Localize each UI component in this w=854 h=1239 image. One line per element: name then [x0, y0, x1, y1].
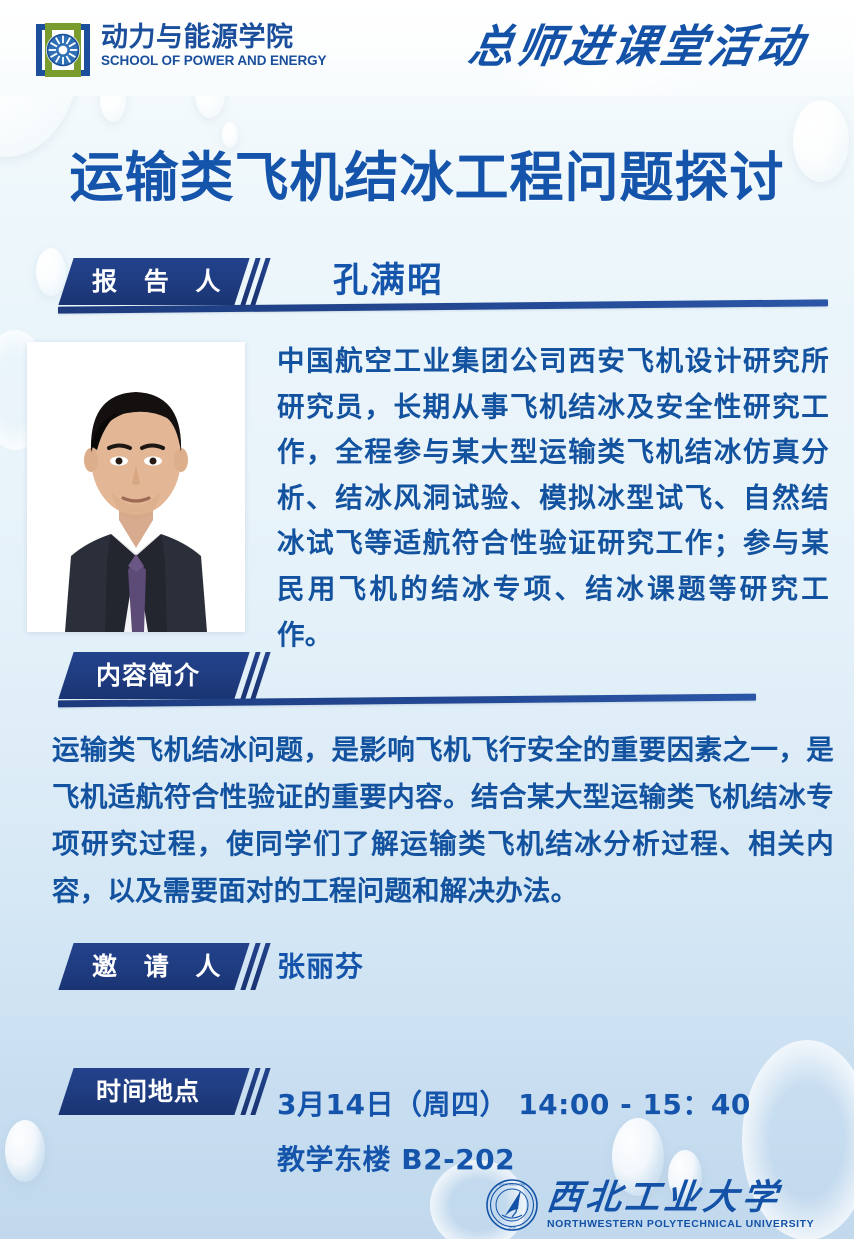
event-datetime: 3月14日（周四） 14:00 - 15：40: [277, 1077, 837, 1132]
event-series-tag: 总师进课堂活动: [447, 18, 826, 76]
nwpu-university-seal-icon: NORTHWESTERN 1938: [486, 1179, 538, 1231]
poster-canvas: 动力与能源学院 SCHOOL OF POWER AND ENERGY 总师进课堂…: [0, 0, 854, 1239]
decor-bubble: [5, 1120, 45, 1182]
university-name-en: NORTHWESTERN POLYTECHNICAL UNIVERSITY: [547, 1218, 814, 1231]
abstract-label-band: 内容简介: [52, 652, 292, 699]
speaker-portrait: [27, 342, 245, 632]
time-place-values: 3月14日（周四） 14:00 - 15：40 教学东楼 B2-202: [277, 1077, 837, 1187]
school-logo: 动力与能源学院 SCHOOL OF POWER AND ENERGY: [33, 21, 326, 79]
school-name-cn: 动力与能源学院: [101, 22, 326, 52]
abstract-text: 运输类飞机结冰问题，是影响飞机飞行安全的重要因素之一，是飞机适航符合性验证的重要…: [52, 727, 834, 915]
speaker-name: 孔满昭: [333, 258, 444, 305]
speaker-label: 报 告 人: [92, 258, 229, 305]
time-place-label: 时间地点: [96, 1068, 200, 1115]
inviter-label: 邀 请 人: [92, 943, 229, 990]
university-footer: NORTHWESTERN 1938 西北工业大学 NORTHWESTERN PO…: [486, 1176, 838, 1234]
svg-text:NORTHWESTERN: NORTHWESTERN: [499, 1182, 525, 1186]
decor-bubble: [222, 122, 238, 148]
speaker-bio: 中国航空工业集团公司西安飞机设计研究所研究员，长期从事飞机结冰及安全性研究工作，…: [277, 339, 829, 658]
inviter-name: 张丽芬: [277, 948, 364, 986]
page-title: 运输类飞机结冰工程问题探讨: [0, 146, 854, 210]
inviter-label-band: 邀 请 人: [52, 943, 292, 990]
school-logo-text: 动力与能源学院 SCHOOL OF POWER AND ENERGY: [101, 21, 326, 68]
school-name-en: SCHOOL OF POWER AND ENERGY: [101, 53, 326, 68]
svg-text:1938: 1938: [509, 1226, 516, 1230]
university-name: 西北工业大学 NORTHWESTERN POLYTECHNICAL UNIVER…: [547, 1180, 814, 1231]
gear-turbine-bracket-logo-icon: [33, 21, 93, 79]
abstract-label: 内容简介: [96, 652, 200, 699]
university-name-cn: 西北工业大学: [545, 1180, 816, 1217]
header-bar: 动力与能源学院 SCHOOL OF POWER AND ENERGY 总师进课堂…: [0, 0, 854, 96]
speaker-label-band: 报 告 人: [52, 258, 292, 305]
time-place-label-band: 时间地点: [52, 1068, 292, 1115]
